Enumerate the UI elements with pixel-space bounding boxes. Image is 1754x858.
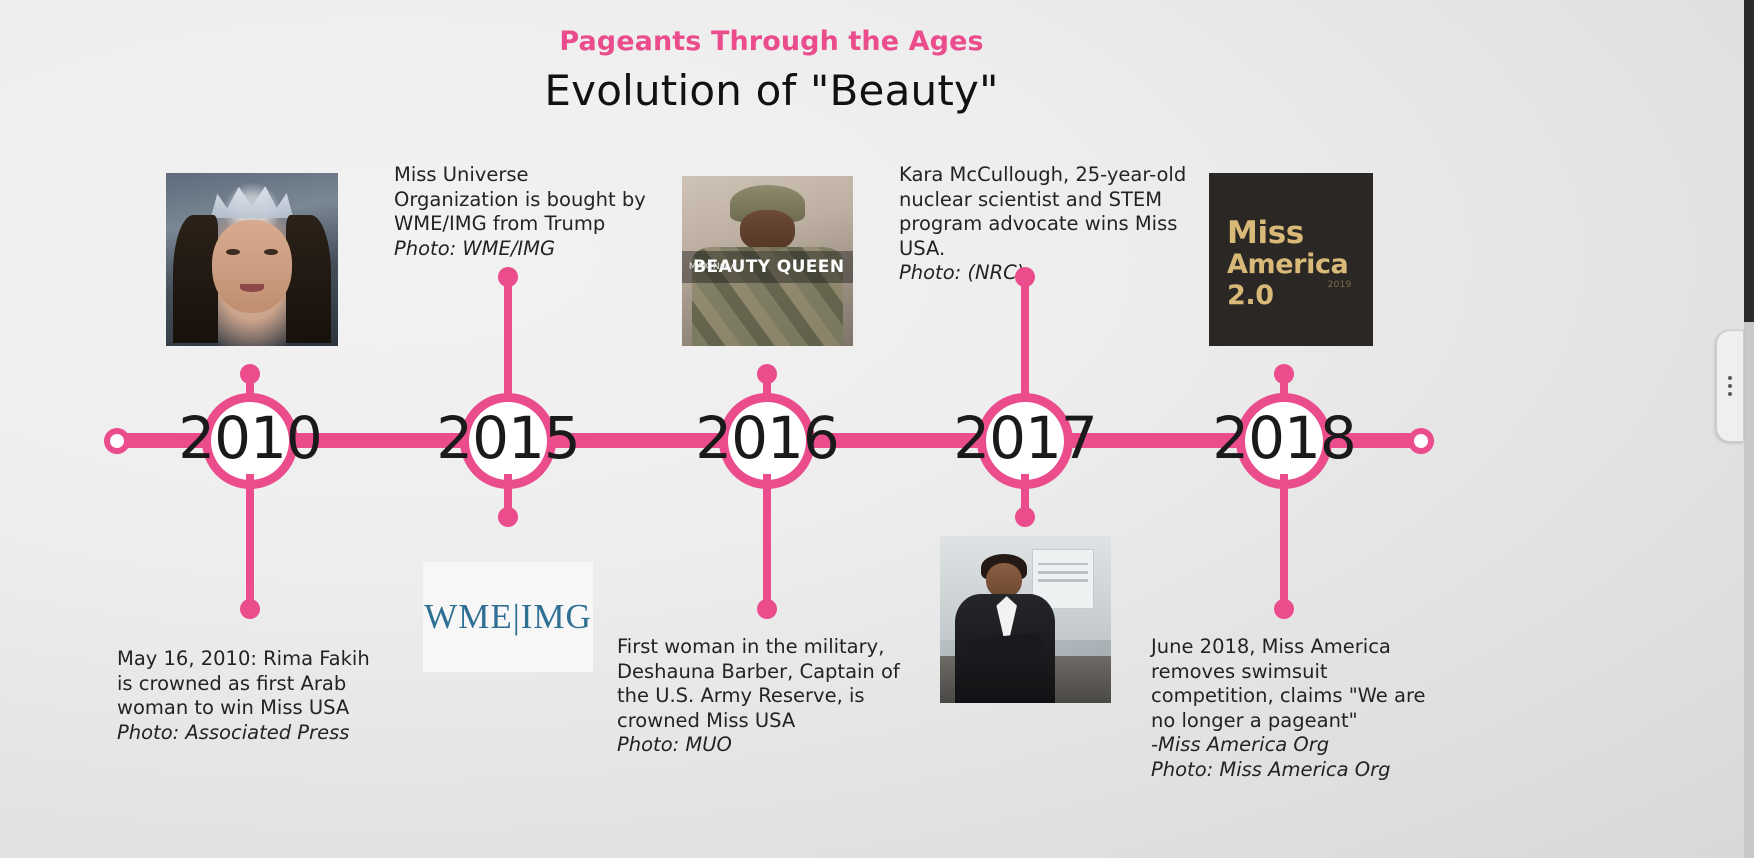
entry-text-2017: Kara McCullough, 25-year-old nuclear sci… xyxy=(899,163,1204,286)
logo-line-1: Miss xyxy=(1227,215,1304,251)
vertical-scrollbar-thumb[interactable] xyxy=(1744,0,1754,322)
miss-america-logo-text: Miss America 2.0 xyxy=(1227,218,1355,311)
entry-text-2018: June 2018, Miss America removes swimsuit… xyxy=(1151,635,1451,782)
entry-body-2010: May 16, 2010: Rima Fakih is crowned as f… xyxy=(117,647,370,719)
hair-right-shape xyxy=(286,215,331,343)
head-shape xyxy=(986,563,1022,598)
stem-2017-up xyxy=(1021,275,1029,408)
stem-dot-2015-down xyxy=(498,507,518,527)
entry-body-2017: Kara McCullough, 25-year-old nuclear sci… xyxy=(899,163,1186,260)
face-shape xyxy=(212,220,291,313)
timeline-endcap-left xyxy=(104,428,130,454)
stem-dot-2016-down xyxy=(757,599,777,619)
stem-2015-up xyxy=(504,275,512,408)
entry-credit-2017: Photo: (NRC) xyxy=(899,261,1204,286)
entry-text-2010: May 16, 2010: Rima Fakih is crowned as f… xyxy=(117,647,385,745)
stem-dot-2016-up xyxy=(757,364,777,384)
soldier-face-shape xyxy=(740,210,795,251)
logo-year-mark: 2019 xyxy=(1328,280,1352,290)
photo-rima-fakih xyxy=(166,173,338,346)
timeline-year-label-2010: 2010 xyxy=(150,404,350,472)
crown-shape xyxy=(211,183,294,218)
photo-beauty-queen-still: BEAUTY QUEEN MAKING A xyxy=(682,176,853,346)
stem-dot-2017-down xyxy=(1015,507,1035,527)
timeline-year-label-2015: 2015 xyxy=(408,404,608,472)
vertical-scrollbar-track[interactable] xyxy=(1744,0,1754,858)
stem-dot-2010-down xyxy=(240,599,260,619)
logo-line-2: America xyxy=(1227,249,1355,280)
timeline-year-label-2017: 2017 xyxy=(925,404,1125,472)
stem-dot-2015-up xyxy=(498,267,518,287)
stem-dot-2018-up xyxy=(1274,364,1294,384)
stem-dot-2010-up xyxy=(240,364,260,384)
entry-text-2016: First woman in the military, Deshauna Ba… xyxy=(617,635,917,758)
hair-left-shape xyxy=(173,215,218,343)
entry-credit-2015: Photo: WME/IMG xyxy=(394,237,650,262)
timeline-year-label-2018: 2018 xyxy=(1184,404,1384,472)
stem-dot-2017-up xyxy=(1015,267,1035,287)
slide-headline: Evolution of "Beauty" xyxy=(0,66,1543,115)
overlay-subtitle: MAKING A xyxy=(689,262,737,272)
entry-body-2015: Miss Universe Organization is bought by … xyxy=(394,163,646,235)
wme-img-logo-text: WME|IMG xyxy=(424,597,592,637)
stem-2018-down xyxy=(1280,474,1288,608)
logo-wme-img: WME|IMG xyxy=(423,562,593,672)
timeline-endcap-right xyxy=(1408,428,1434,454)
photo-deshauna-barber-office xyxy=(940,536,1111,703)
entry-body-2018: June 2018, Miss America removes swimsuit… xyxy=(1151,635,1426,732)
entry-credit-2018: Photo: Miss America Org xyxy=(1151,758,1451,783)
drag-handle-more-options[interactable] xyxy=(1716,330,1744,442)
title-ribbon: BEAUTY QUEEN MAKING A xyxy=(682,251,853,283)
entry-text-2015: Miss Universe Organization is bought by … xyxy=(394,163,650,261)
stem-2010-down xyxy=(246,474,254,608)
entry-quote-2018: -Miss America Org xyxy=(1151,733,1451,758)
entry-body-2016: First woman in the military, Deshauna Ba… xyxy=(617,635,900,732)
entry-credit-2016: Photo: MUO xyxy=(617,733,917,758)
more-options-icon xyxy=(1728,376,1732,396)
slide-canvas: Pageants Through the Ages Evolution of "… xyxy=(0,0,1754,858)
stem-dot-2018-down xyxy=(1274,599,1294,619)
timeline-year-label-2016: 2016 xyxy=(667,404,867,472)
entry-credit-2010: Photo: Associated Press xyxy=(117,721,385,746)
slide-kicker: Pageants Through the Ages xyxy=(0,26,1543,57)
logo-miss-america-2-0: Miss America 2.0 2019 xyxy=(1209,173,1373,346)
stem-2016-down xyxy=(763,474,771,608)
